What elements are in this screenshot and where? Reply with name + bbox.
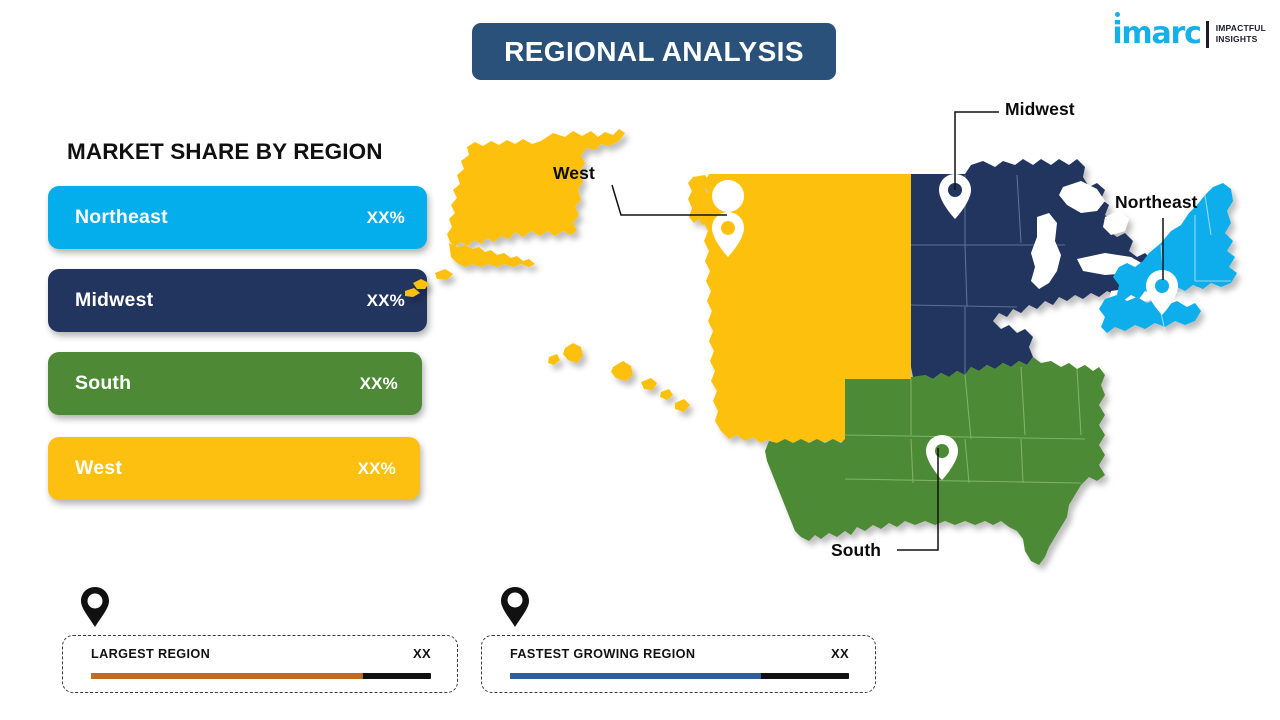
region-bar-value: XX% <box>360 374 398 394</box>
fastest-growing-region-card[interactable]: FASTEST GROWING REGION XX <box>481 635 876 693</box>
us-regional-map <box>405 95 1280 595</box>
region-bar-west[interactable]: West XX% <box>48 437 420 500</box>
panel-heading: MARKET SHARE BY REGION <box>67 139 383 165</box>
region-bar-value: XX% <box>358 459 396 479</box>
region-bar-value: XX% <box>367 291 405 311</box>
imarc-logo: imarc IMPACTFUL INSIGHTS <box>1112 12 1266 56</box>
largest-region-value: XX <box>413 646 431 661</box>
largest-region-card[interactable]: LARGEST REGION XX <box>62 635 458 693</box>
fastest-growing-region-fill <box>510 673 761 679</box>
logo-wordmark-text: imarc <box>1112 16 1200 51</box>
logo-tagline: IMPACTFUL INSIGHTS <box>1216 23 1266 45</box>
logo-wordmark: imarc <box>1112 19 1200 49</box>
fastest-growing-region-row: FASTEST GROWING REGION XX <box>510 646 849 661</box>
region-bar-label: Midwest <box>75 289 367 312</box>
logo-tagline-line1: IMPACTFUL <box>1216 23 1266 33</box>
page-title: REGIONAL ANALYSIS <box>504 36 804 68</box>
largest-region-pin-icon <box>79 586 111 628</box>
map-label-northeast: Northeast <box>1115 192 1198 213</box>
region-bar-midwest[interactable]: Midwest XX% <box>48 269 427 332</box>
map-label-south: South <box>831 540 881 561</box>
region-bar-label: South <box>75 372 360 395</box>
region-bar-northeast[interactable]: Northeast XX% <box>48 186 427 249</box>
map-label-midwest: Midwest <box>1005 99 1075 120</box>
fastest-growing-region-pin-icon <box>499 586 531 628</box>
fastest-growing-region-value: XX <box>831 646 849 661</box>
region-bar-south[interactable]: South XX% <box>48 352 422 415</box>
largest-region-track <box>91 673 431 679</box>
map-region-hawaii <box>548 343 690 412</box>
largest-region-label: LARGEST REGION <box>91 647 413 661</box>
region-bar-label: West <box>75 457 358 480</box>
fastest-growing-region-label: FASTEST GROWING REGION <box>510 647 831 661</box>
region-bar-label: Northeast <box>75 206 367 229</box>
page-title-banner: REGIONAL ANALYSIS <box>472 23 836 80</box>
logo-divider <box>1206 21 1209 48</box>
largest-region-row: LARGEST REGION XX <box>91 646 431 661</box>
region-bar-value: XX% <box>367 208 405 228</box>
largest-region-fill <box>91 673 363 679</box>
map-label-west: West <box>553 163 595 184</box>
fastest-growing-region-track <box>510 673 849 679</box>
logo-tagline-line2: INSIGHTS <box>1216 34 1258 44</box>
map-region-alaska <box>405 129 625 297</box>
